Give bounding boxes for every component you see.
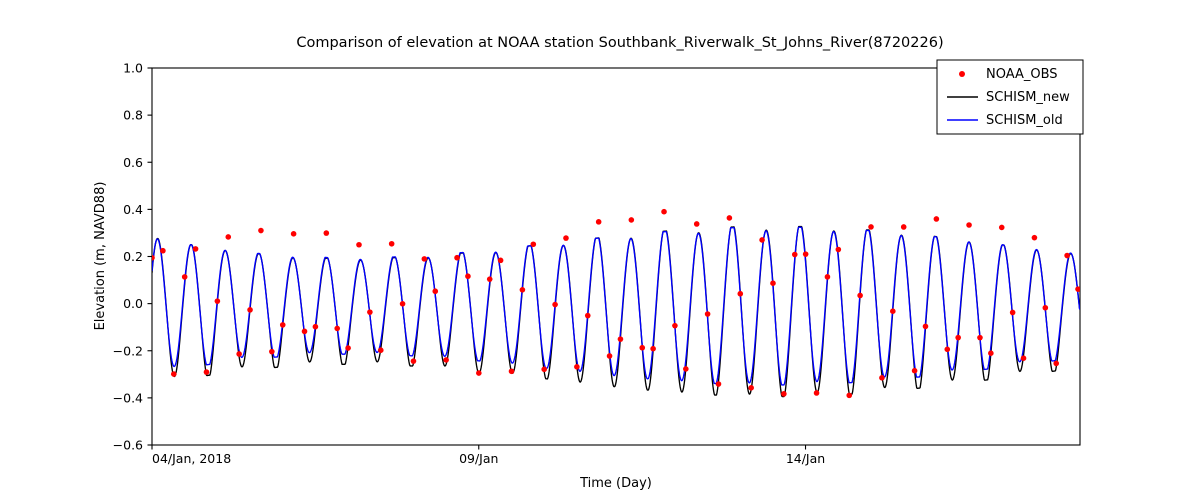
observation-point [324,230,330,236]
observation-point [1075,286,1081,292]
observation-point [901,224,907,230]
observation-point [650,346,656,352]
observation-point [454,255,460,261]
x-tick-label: 04/Jan, 2018 [152,451,231,466]
observation-point [825,274,831,280]
observation-point [999,225,1005,231]
legend-label-schism_old: SCHISM_old [986,113,1063,128]
observation-point [596,219,602,225]
elevation-comparison-chart: Comparison of elevation at NOAA station … [0,0,1200,500]
observation-point [160,248,166,254]
observation-point [618,336,624,342]
observation-point [694,221,700,227]
legend-label-noaa_obs: NOAA_OBS [986,67,1058,82]
observation-point [890,308,896,314]
observation-point [476,370,482,376]
observation-point [1021,355,1027,361]
observation-point [748,385,754,391]
observation-point [236,351,242,357]
y-tick-label: 0.8 [123,108,143,123]
observation-point [422,256,428,262]
observation-point [574,364,580,370]
chart-figure: Comparison of elevation at NOAA station … [0,0,1200,500]
y-tick-label: −0.2 [113,343,143,358]
observation-point [857,293,863,299]
false [959,71,965,77]
y-tick-label: −0.4 [113,390,143,405]
observation-point [345,345,351,351]
x-axis-label: Time (Day) [579,476,652,491]
observation-point [531,241,537,247]
observation-point [879,375,885,381]
observation-point [563,235,569,241]
observation-point [846,393,852,399]
y-axis-label: Elevation (m, NAVD88) [93,182,108,331]
observation-point [280,322,286,328]
observation-point [465,273,471,279]
observation-point [225,234,231,240]
observation-point [432,288,438,294]
observation-point [356,242,362,248]
observation-point [781,391,787,397]
observation-point [585,313,591,319]
x-tick-label: 14/Jan [786,451,825,466]
observation-point [1043,305,1049,311]
observation-point [705,311,711,317]
observation-point [944,347,950,353]
observation-point [411,358,417,364]
observation-point [792,252,798,258]
observation-point [683,366,689,372]
observation-point [520,287,526,293]
observation-point [607,353,613,359]
y-tick-label: 0.6 [123,155,143,170]
y-tick-label: 0.0 [123,296,143,311]
observation-point [988,350,994,356]
observation-point [803,251,809,257]
observation-point [367,309,373,315]
observation-point [334,326,340,332]
observation-point [400,301,406,307]
observation-point [672,323,678,329]
observation-point [966,222,972,228]
observation-point [955,335,961,341]
observation-point [171,371,177,377]
observation-point [727,215,733,221]
observation-point [1064,253,1070,259]
observation-point [923,324,929,330]
observation-point [389,241,395,247]
chart-title: Comparison of elevation at NOAA station … [296,35,943,51]
observation-point [291,231,297,237]
observation-point [378,347,384,353]
observation-point [1053,361,1059,367]
y-tick-label: 0.2 [123,249,143,264]
observation-point [204,369,210,375]
observation-point [182,274,188,280]
observation-point [934,216,940,222]
observation-point [302,329,308,335]
observation-point [629,217,635,223]
x-tick-label: 09/Jan [459,451,498,466]
y-tick-label: −0.6 [113,438,143,453]
observation-point [814,390,820,396]
observation-point [868,224,874,230]
y-tick-label: 1.0 [123,61,143,76]
observation-point [759,237,765,243]
observation-point [737,291,743,297]
observation-point [1032,235,1038,241]
observation-point [639,345,645,351]
observation-point [487,276,493,282]
chart-legend[interactable]: NOAA_OBSSCHISM_newSCHISM_old [937,60,1083,134]
observation-point [258,228,264,234]
observation-point [498,258,504,264]
y-tick-label: 0.4 [123,202,143,217]
observation-point [770,280,776,286]
observation-point [269,349,275,355]
observation-point [836,247,842,253]
observation-point [716,381,722,387]
observation-point [1010,310,1016,316]
observation-point [661,209,667,215]
observation-point [552,302,558,308]
observation-point [541,367,547,373]
observation-point [313,324,319,330]
observation-point [215,298,221,304]
legend-label-schism_new: SCHISM_new [986,90,1070,105]
observation-point [443,357,449,363]
observation-point [912,368,918,374]
observation-point [509,368,515,374]
observation-point [193,246,199,252]
observation-point [977,335,983,341]
observation-point [247,307,253,313]
